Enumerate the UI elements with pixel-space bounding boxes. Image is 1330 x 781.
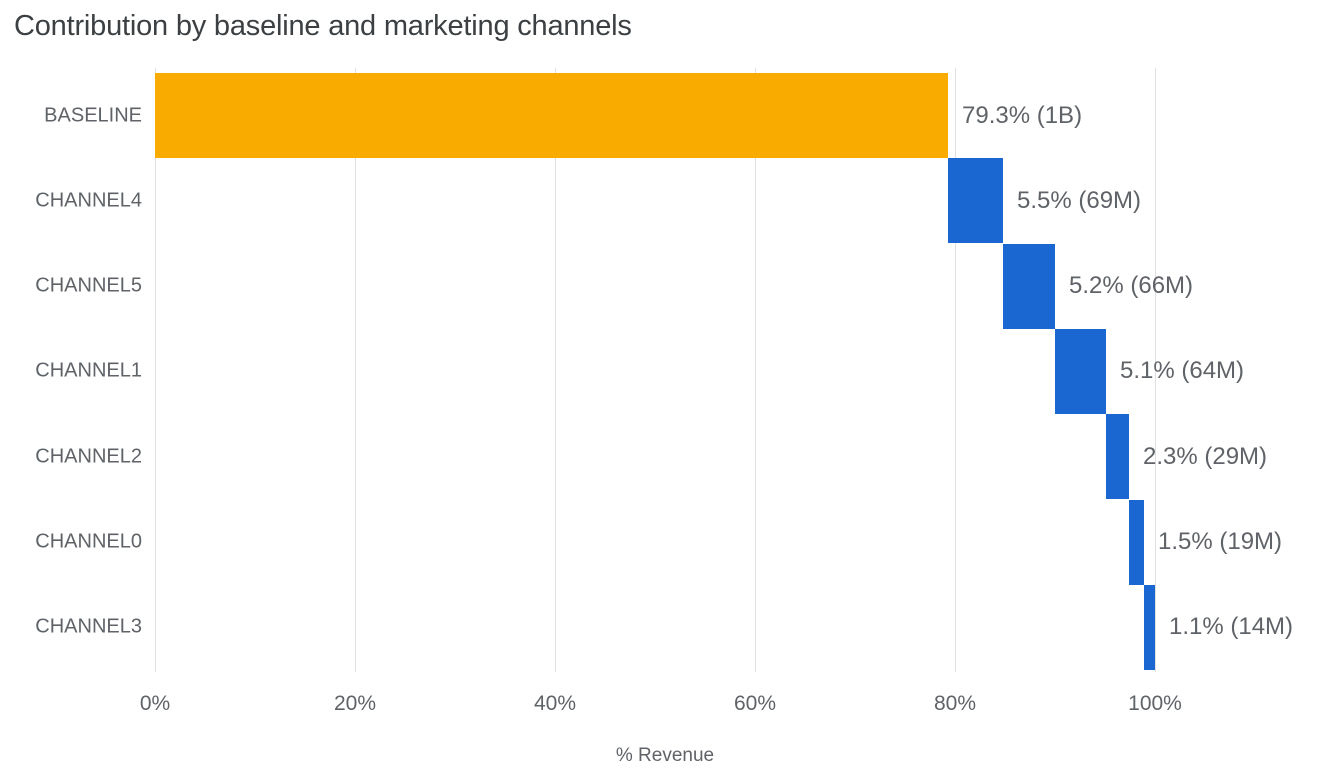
value-label-channel2: 2.3% (29M) [1143, 443, 1267, 471]
x-tick-100pct: 100% [1128, 692, 1182, 716]
bar-baseline[interactable] [155, 73, 948, 158]
bar-channel3[interactable] [1144, 585, 1155, 670]
x-tick-80pct: 80% [934, 692, 976, 716]
y-axis-label-channel3: CHANNEL3 [35, 616, 142, 639]
bar-channel5[interactable] [1003, 244, 1055, 329]
y-axis-label-channel0: CHANNEL0 [35, 531, 142, 554]
y-axis-label-baseline: BASELINE [44, 104, 142, 127]
value-label-channel3: 1.1% (14M) [1169, 613, 1293, 641]
bar-channel0[interactable] [1129, 500, 1144, 585]
value-label-channel1: 5.1% (64M) [1120, 357, 1244, 385]
y-axis-label-channel5: CHANNEL5 [35, 275, 142, 298]
y-axis-label-channel2: CHANNEL2 [35, 445, 142, 468]
bars-layer [155, 68, 1155, 672]
plot-area [155, 68, 1155, 672]
x-tick-60pct: 60% [734, 692, 776, 716]
y-axis-label-channel4: CHANNEL4 [35, 189, 142, 212]
value-label-baseline: 79.3% (1B) [962, 102, 1082, 130]
value-label-channel4: 5.5% (69M) [1017, 187, 1141, 215]
waterfall-chart: Contribution by baseline and marketing c… [0, 0, 1330, 781]
x-axis-title: % Revenue [0, 745, 1330, 767]
x-tick-20pct: 20% [334, 692, 376, 716]
chart-title: Contribution by baseline and marketing c… [14, 10, 632, 43]
x-tick-0pct: 0% [140, 692, 170, 716]
y-axis-label-channel1: CHANNEL1 [35, 360, 142, 383]
x-tick-40pct: 40% [534, 692, 576, 716]
bar-channel2[interactable] [1106, 414, 1129, 499]
bar-channel4[interactable] [948, 158, 1003, 243]
value-label-channel5: 5.2% (66M) [1069, 272, 1193, 300]
bar-channel1[interactable] [1055, 329, 1106, 414]
value-label-channel0: 1.5% (19M) [1158, 528, 1282, 556]
